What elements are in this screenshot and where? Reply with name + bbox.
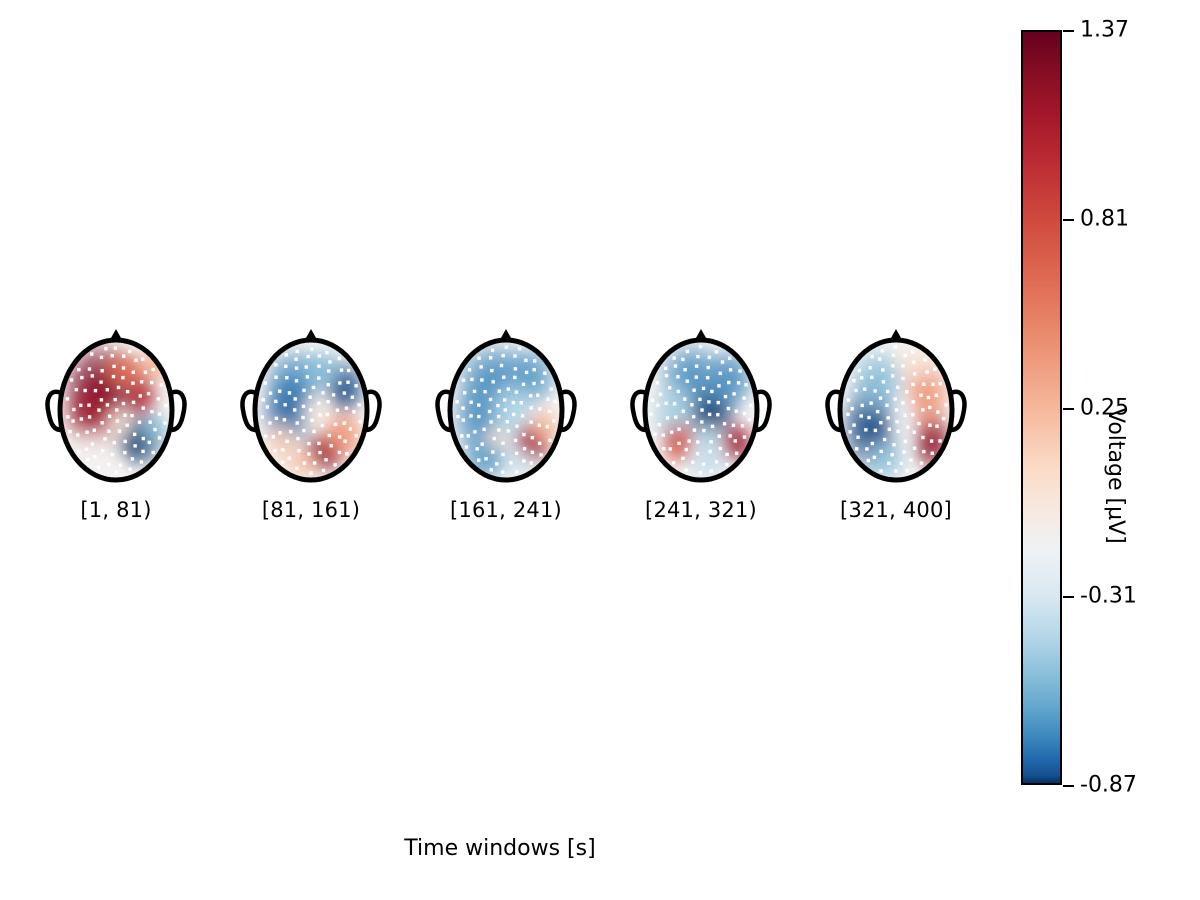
eeg-topomap-figure: [1, 81) [81, 161) [161, 241) [241, 321) … — [0, 0, 1200, 900]
colorbar-tick-2 — [1063, 408, 1074, 410]
topomap-label-4: [321, 400] — [801, 498, 991, 522]
colorbar — [1021, 30, 1062, 785]
topomap-2 — [411, 320, 601, 500]
topomap-cell-4 — [801, 320, 991, 500]
topomap-cell-3 — [606, 320, 796, 500]
x-axis-title: Time windows [s] — [0, 836, 1000, 861]
topomap-1 — [216, 320, 406, 500]
topomap-cell-0 — [21, 320, 211, 500]
topomap-label-3: [241, 321) — [606, 498, 796, 522]
colorbar-tick-label-1: 0.81 — [1080, 206, 1129, 231]
topomap-row — [0, 320, 1000, 500]
topomap-4 — [801, 320, 991, 500]
colorbar-tick-3 — [1063, 596, 1074, 598]
colorbar-tick-0 — [1063, 30, 1074, 32]
topomap-cell-2 — [411, 320, 601, 500]
colorbar-tick-label-3: -0.31 — [1080, 584, 1137, 609]
topomap-label-1: [81, 161) — [216, 498, 406, 522]
topomap-3 — [606, 320, 796, 500]
colorbar-tick-label-4: -0.87 — [1080, 773, 1137, 798]
topomap-0 — [21, 320, 211, 500]
topomap-label-0: [1, 81) — [21, 498, 211, 522]
colorbar-title: Voltage [µV] — [1103, 408, 1128, 544]
colorbar-tick-4 — [1063, 785, 1074, 787]
colorbar-gradient — [1021, 30, 1062, 785]
colorbar-tick-1 — [1063, 219, 1074, 221]
topomap-cell-1 — [216, 320, 406, 500]
colorbar-tick-label-0: 1.37 — [1080, 18, 1129, 43]
topomap-label-2: [161, 241) — [411, 498, 601, 522]
